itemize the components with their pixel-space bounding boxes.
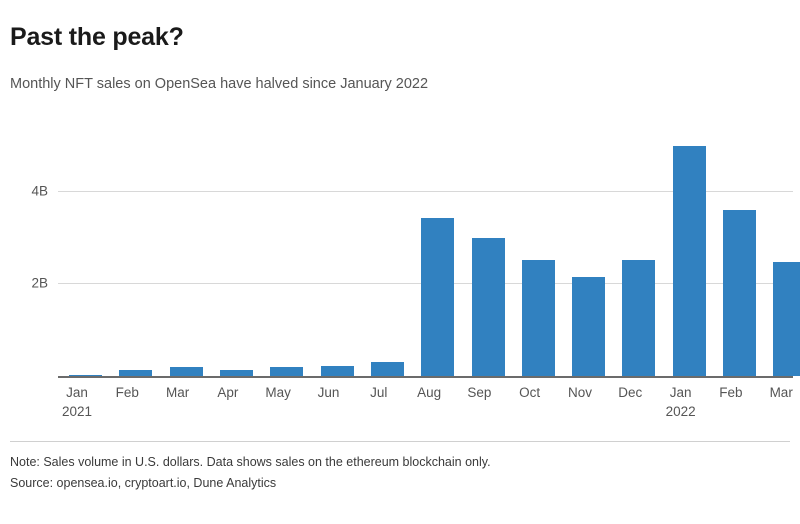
x-label-month: Jun [318, 385, 340, 400]
x-label-month: Apr [217, 385, 238, 400]
footer-divider [10, 441, 790, 442]
bar[interactable] [572, 277, 605, 376]
bar[interactable] [472, 238, 505, 376]
footer: Note: Sales volume in U.S. dollars. Data… [10, 452, 790, 494]
bar[interactable] [773, 262, 800, 376]
x-label-year: 2021 [42, 402, 112, 421]
bar[interactable] [270, 367, 303, 376]
x-axis-tick-label: Mar [746, 383, 800, 402]
bar[interactable] [69, 375, 102, 376]
x-label-month: Oct [519, 385, 540, 400]
x-label-month: Mar [166, 385, 189, 400]
x-axis-labels: Jan2021FebMarAprMayJunJulAugSepOctNovDec… [58, 383, 793, 433]
x-label-month: Dec [618, 385, 642, 400]
chart-page: Past the peak? Monthly NFT sales on Open… [0, 0, 800, 524]
footer-note: Note: Sales volume in U.S. dollars. Data… [10, 452, 790, 473]
bar[interactable] [321, 366, 354, 376]
x-label-month: Aug [417, 385, 441, 400]
x-label-month: Jan [670, 385, 692, 400]
bars-layer [58, 120, 793, 376]
x-label-month: May [265, 385, 291, 400]
x-label-month: Feb [719, 385, 742, 400]
x-label-month: Mar [770, 385, 793, 400]
x-label-year: 2022 [646, 402, 716, 421]
x-label-month: Jul [370, 385, 387, 400]
x-label-month: Jan [66, 385, 88, 400]
bar[interactable] [522, 260, 555, 376]
bar[interactable] [119, 370, 152, 376]
x-axis-line [58, 376, 793, 378]
bar[interactable] [673, 146, 706, 376]
y-axis-tick-label: 2B [31, 276, 48, 291]
bar[interactable] [421, 218, 454, 376]
bar[interactable] [622, 260, 655, 376]
bar[interactable] [723, 210, 756, 376]
y-axis-tick-label: 4B [31, 183, 48, 198]
bar[interactable] [220, 370, 253, 376]
x-label-month: Nov [568, 385, 592, 400]
x-label-month: Sep [467, 385, 491, 400]
bar[interactable] [170, 367, 203, 376]
chart-plot-wrapper: 2B4B Jan2021FebMarAprMayJunJulAugSepOctN… [0, 0, 800, 440]
x-label-month: Feb [116, 385, 139, 400]
footer-source: Source: opensea.io, cryptoart.io, Dune A… [10, 473, 790, 494]
bar[interactable] [371, 362, 404, 376]
